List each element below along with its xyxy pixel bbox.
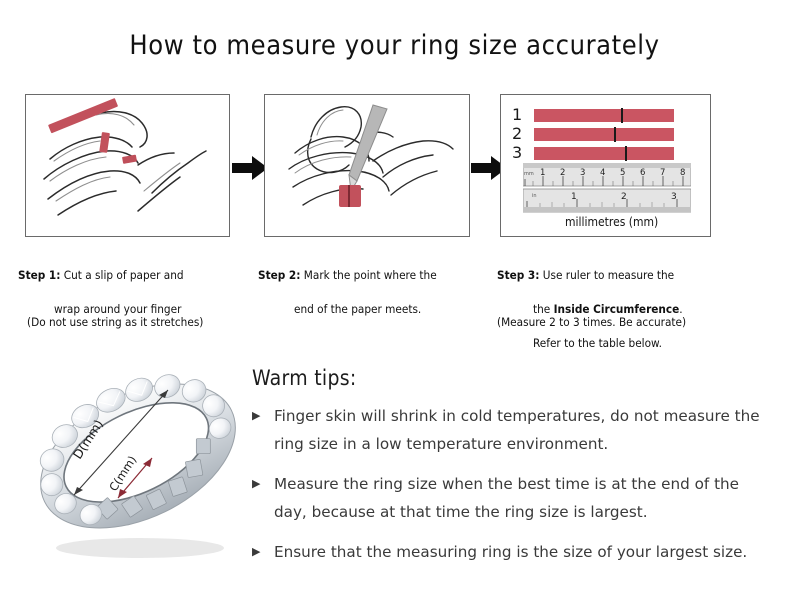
step-1-illustration-panel — [25, 94, 230, 237]
step-2-line2: end of the paper meets. — [258, 301, 498, 318]
ring-illustration — [22, 352, 254, 564]
step-3-line1: Use ruler to measure the — [543, 268, 674, 282]
step-2-label: Step 2: — [258, 268, 300, 282]
strip-number-2: 2 — [512, 124, 522, 143]
step-3-note: (Measure 2 to 3 times. Be accurate) — [497, 315, 686, 329]
strip-number-3: 3 — [512, 143, 522, 162]
svg-text:in: in — [532, 193, 537, 199]
step-2-line1: Mark the point where the — [304, 268, 437, 282]
ruler-caption: millimetres (mm) — [565, 215, 658, 229]
pen-icon — [349, 105, 387, 191]
bullet-triangle-icon: ▶ — [252, 470, 260, 498]
measured-strip-2: 2 — [534, 128, 674, 141]
svg-text:6: 6 — [640, 168, 645, 178]
strip-bar-2 — [534, 128, 674, 141]
tip-text-1: Finger skin will shrink in cold temperat… — [274, 402, 772, 458]
step-3-line2-prefix: the — [533, 302, 554, 316]
strip-mark-3 — [625, 146, 627, 161]
svg-text:2: 2 — [621, 192, 627, 202]
step-1-note: (Do not use string as it stretches) — [27, 315, 203, 329]
tip-text-3: Ensure that the measuring ring is the si… — [274, 538, 772, 566]
step-3-line2-suffix: . — [679, 302, 682, 316]
bullet-triangle-icon: ▶ — [252, 402, 260, 430]
tip-item-1: ▶ Finger skin will shrink in cold temper… — [252, 402, 772, 458]
step-3-inside-circumference: Inside Circumference — [554, 302, 680, 316]
measured-strip-3: 3 — [534, 147, 674, 160]
step-3-label: Step 3: — [497, 268, 539, 282]
strip-bar-3 — [534, 147, 674, 160]
strip-mark-1 — [621, 108, 623, 123]
step-3-caption: Step 3: Use ruler to measure the the Ins… — [497, 250, 767, 369]
strip-bar-1 — [534, 109, 674, 122]
measured-strip-1: 1 — [534, 109, 674, 122]
ruler-graphic: 123 456 78 mm 123 in — [523, 163, 691, 213]
step-3-illustration-panel: 1 2 3 — [500, 94, 711, 237]
step-3-line3: Refer to the table below. — [497, 335, 767, 352]
svg-text:7: 7 — [660, 168, 665, 178]
step-2-illustration-panel — [264, 94, 470, 237]
step-2-caption: Step 2: Mark the point where the end of … — [258, 250, 498, 335]
svg-text:1: 1 — [571, 192, 577, 202]
svg-text:3: 3 — [671, 192, 677, 202]
eternity-ring-photo — [22, 352, 254, 564]
tip-item-3: ▶ Ensure that the measuring ring is the … — [252, 538, 772, 566]
bullet-triangle-icon: ▶ — [252, 538, 260, 566]
warm-tips-heading: Warm tips: — [252, 366, 357, 390]
hand-marking-strip-drawing — [265, 95, 470, 237]
arrow-step1-to-step2-icon — [232, 155, 268, 181]
svg-text:2: 2 — [560, 168, 565, 178]
step-1-line1: Cut a slip of paper and — [64, 268, 184, 282]
tip-item-2: ▶ Measure the ring size when the best ti… — [252, 470, 772, 526]
tip-text-2: Measure the ring size when the best time… — [274, 470, 772, 526]
strip-number-1: 1 — [512, 105, 522, 124]
svg-text:5: 5 — [620, 168, 625, 178]
svg-text:3: 3 — [580, 168, 585, 178]
warm-tips-list: ▶ Finger skin will shrink in cold temper… — [252, 402, 772, 578]
step-1-label: Step 1: — [18, 268, 60, 282]
strip-mark-2 — [614, 127, 616, 142]
svg-text:4: 4 — [600, 168, 605, 178]
hand-with-paper-strip-drawing — [26, 95, 230, 237]
svg-text:8: 8 — [680, 168, 685, 178]
svg-text:1: 1 — [540, 168, 545, 178]
svg-text:mm: mm — [524, 171, 534, 177]
page-title: How to measure your ring size accurately — [0, 30, 789, 61]
paper-strip-red — [339, 185, 361, 207]
